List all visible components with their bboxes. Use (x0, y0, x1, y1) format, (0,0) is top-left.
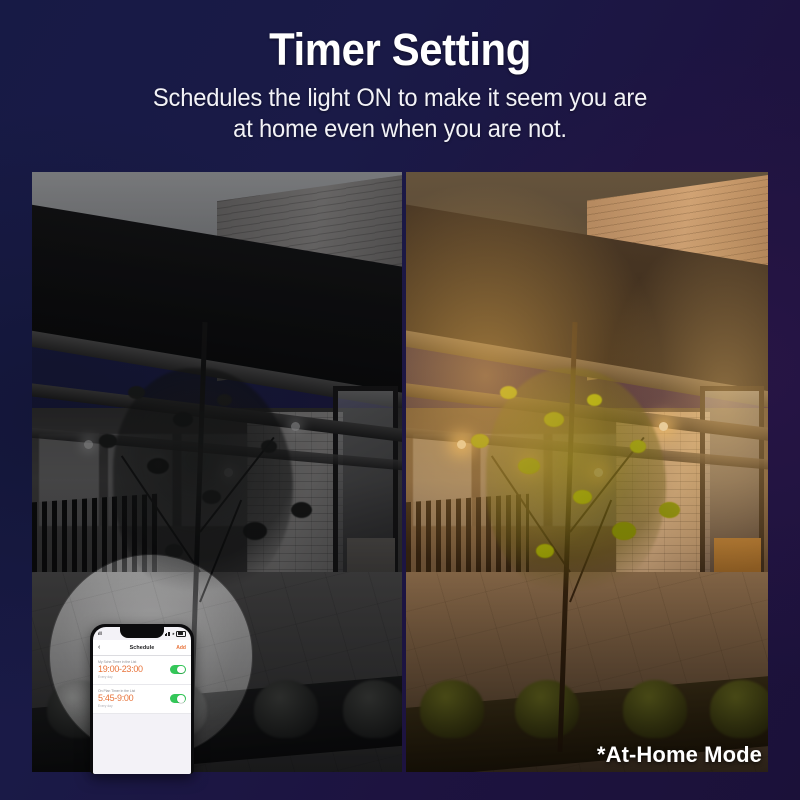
toggle-knob (177, 666, 185, 674)
schedule-time: 5:45-9:00 (98, 693, 135, 704)
phone-screen: ıll ◕ ‹ Schedule Add My Sche-Timer in th… (93, 627, 191, 774)
schedule-toggle[interactable] (170, 665, 186, 675)
schedule-list: My Sche-Timer in the List 19:00-23:00 Ev… (93, 656, 191, 760)
carrier-label: ıll (98, 631, 102, 636)
phone-navbar: ‹ Schedule Add (93, 640, 191, 656)
phone-mockup: ıll ◕ ‹ Schedule Add My Sche-Timer in th… (90, 624, 194, 774)
add-schedule-button[interactable]: Add (176, 645, 186, 651)
battery-icon (176, 631, 186, 637)
signal-icon (165, 632, 171, 636)
subtitle-line-1: Schedules the light ON to make it seem y… (20, 83, 780, 114)
promo-banner: Timer Setting Schedules the light ON to … (0, 0, 800, 800)
schedule-info: On Plan Timer in the List 5:45-9:00 Ever… (98, 689, 135, 708)
wifi-icon: ◕ (172, 631, 175, 636)
header: Timer Setting Schedules the light ON to … (0, 0, 800, 145)
subtitle-line-2: at home even when you are not. (20, 114, 780, 145)
schedule-note: Every day (98, 704, 135, 708)
toggle-knob (177, 695, 185, 703)
schedule-empty-area (93, 714, 191, 760)
scene-tint-on (406, 172, 768, 772)
at-home-mode-caption: *At-Home Mode (597, 742, 762, 768)
status-icons: ◕ (165, 631, 186, 637)
schedule-info: My Sche-Timer in the List 19:00-23:00 Ev… (98, 660, 143, 679)
schedule-row[interactable]: My Sche-Timer in the List 19:00-23:00 Ev… (93, 656, 191, 685)
phone-notch (120, 627, 164, 638)
photo-lights-on (406, 172, 768, 772)
schedule-note: Every day (98, 675, 143, 679)
page-subtitle: Schedules the light ON to make it seem y… (20, 76, 780, 145)
page-title: Timer Setting (28, 0, 772, 76)
schedule-row[interactable]: On Plan Timer in the List 5:45-9:00 Ever… (93, 685, 191, 714)
schedule-toggle[interactable] (170, 694, 186, 704)
schedule-time: 19:00-23:00 (98, 664, 143, 675)
